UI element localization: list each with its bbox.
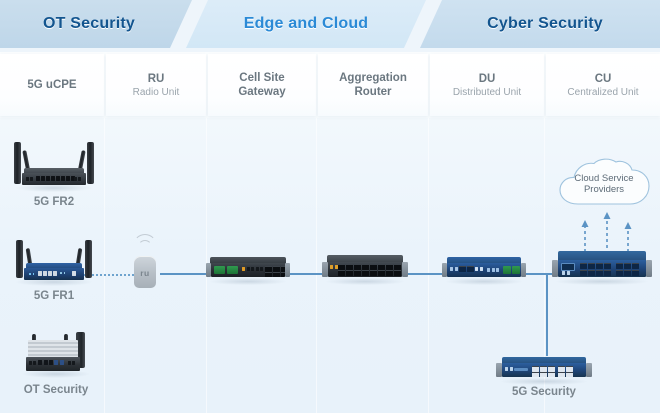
cloud-service-providers[interactable]: Cloud Service Providers	[556, 158, 652, 210]
device-shadow	[210, 278, 286, 285]
ru-label: ru	[134, 268, 156, 278]
column-subtitle-aggregation-router: Router	[354, 85, 391, 99]
wire-gateway-to-aggregation	[288, 273, 326, 275]
device-5g-security[interactable]	[496, 355, 592, 383]
chassis-front-panel	[328, 262, 402, 277]
rack-ear-right	[586, 363, 592, 377]
rack-ear-right	[402, 262, 408, 277]
banner-section-edge-and-cloud[interactable]: Edge and Cloud	[186, 0, 426, 48]
wifi-arc-inner-icon	[138, 240, 152, 254]
column-subtitle-cu: Centralized Unit	[567, 86, 638, 99]
column-header-du[interactable]: DU Distributed Unit	[430, 54, 544, 116]
device-label-ot-security: OT Security	[8, 384, 104, 396]
lcd-display	[561, 263, 575, 271]
column-subtitle-du: Distributed Unit	[453, 86, 521, 99]
column-title-5g-ucpe: 5G uCPE	[27, 78, 76, 92]
column-separator-1	[104, 118, 105, 413]
banner: OT Security Edge and Cloud Cyber Securit…	[0, 0, 660, 50]
column-subtitle-ru: Radio Unit	[133, 86, 180, 99]
device-ru[interactable]: ru	[126, 232, 164, 290]
device-shadow	[16, 184, 92, 192]
device-aggregation-router[interactable]	[322, 253, 408, 283]
device-ot-security[interactable]	[18, 330, 94, 378]
device-5g-fr1[interactable]	[8, 236, 100, 286]
wire-cu-to-5g-security	[546, 274, 548, 356]
column-header-cu[interactable]: CU Centralized Unit	[546, 54, 660, 116]
banner-label-cyber-security: Cyber Security	[487, 15, 603, 33]
wire-ru-to-cell-site-gateway	[160, 273, 208, 275]
ru-body: ru	[134, 256, 156, 288]
banner-label-edge-and-cloud: Edge and Cloud	[244, 15, 369, 33]
device-cu[interactable]	[552, 249, 652, 283]
banner-section-cyber-security[interactable]: Cyber Security	[420, 0, 660, 48]
banner-section-ot-security[interactable]: OT Security	[0, 0, 192, 48]
chassis-front-panel	[502, 363, 586, 377]
chassis-heatsink	[28, 340, 78, 358]
cloud-label-line2: Providers	[556, 184, 652, 195]
device-label-5g-security: 5G Security	[494, 386, 594, 398]
chassis-front-panel	[26, 357, 80, 371]
rack-ear-right	[646, 260, 652, 277]
column-header-ru[interactable]: RU Radio Unit	[106, 54, 206, 116]
column-title-cu: CU	[595, 72, 612, 86]
device-shadow	[22, 370, 90, 378]
device-du[interactable]	[442, 255, 526, 283]
device-shadow	[446, 278, 522, 285]
column-title-du: DU	[479, 72, 496, 86]
column-title-ru: RU	[148, 72, 165, 86]
antenna-outer-right-icon	[87, 142, 94, 184]
device-shadow	[500, 378, 588, 385]
antenna-outer-left-icon	[16, 240, 23, 278]
module-green-right	[512, 266, 520, 274]
column-subtitle-cell-site-gateway: Gateway	[238, 85, 285, 99]
antenna-outer-right-icon	[85, 240, 92, 278]
wire-aggregation-to-du	[404, 273, 444, 275]
rack-ear-right	[285, 263, 290, 277]
column-separator-3	[316, 118, 317, 413]
column-header-cell-site-gateway[interactable]: Cell Site Gateway	[208, 54, 316, 116]
device-cell-site-gateway[interactable]	[206, 255, 290, 283]
chassis-front-panel	[24, 268, 84, 280]
device-label-5g-fr2: 5G FR2	[8, 196, 100, 208]
terminal-block-right	[227, 266, 238, 274]
rack-ear-right	[521, 263, 526, 277]
banner-label-ot-security: OT Security	[43, 15, 135, 33]
cloud-label-line1: Cloud Service	[556, 173, 652, 184]
device-5g-fr2[interactable]	[8, 140, 100, 192]
column-title-cell-site-gateway: Cell Site	[239, 71, 284, 85]
chassis-front-panel	[22, 173, 86, 185]
column-header-aggregation-router[interactable]: Aggregation Router	[318, 54, 428, 116]
brand-strip	[514, 368, 528, 371]
terminal-block-left	[214, 266, 225, 274]
device-label-5g-fr1: 5G FR1	[8, 290, 100, 302]
module-green-left	[503, 266, 511, 274]
chassis-front-panel	[447, 263, 521, 277]
chassis-front-panel	[211, 263, 285, 277]
device-shadow	[556, 278, 648, 285]
column-header-5g-ucpe[interactable]: 5G uCPE	[0, 54, 104, 116]
column-title-aggregation-router: Aggregation	[339, 71, 407, 85]
device-shadow	[326, 278, 404, 285]
diagram-canvas: OT Security Edge and Cloud Cyber Securit…	[0, 0, 660, 413]
chassis-front-panel	[558, 260, 646, 277]
antenna-outer-left-icon	[14, 142, 21, 184]
cloud-uplink-arrows	[576, 212, 640, 254]
column-separator-4	[428, 118, 429, 413]
